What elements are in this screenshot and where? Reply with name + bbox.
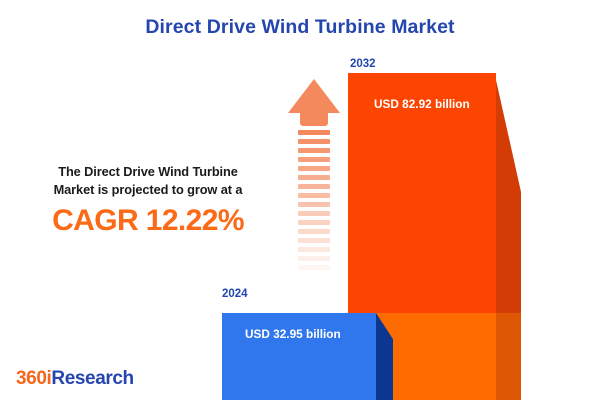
- arrow-stripe: [298, 175, 330, 180]
- arrow-stripe: [298, 283, 330, 288]
- arrow-head-shape: [288, 79, 340, 113]
- arrow-stripe: [298, 157, 330, 162]
- bar-2032-side-face-lower: [496, 313, 521, 400]
- arrow-stripe: [298, 166, 330, 171]
- bar-2032-year-label: 2032: [350, 58, 376, 70]
- arrow-stripe: [298, 238, 330, 243]
- bar-2032-side-face: [496, 80, 521, 313]
- statement-line-2: Market is projected to grow at a: [14, 181, 282, 199]
- arrow-stripe: [298, 130, 330, 135]
- infographic-canvas: Direct Drive Wind Turbine Market The Dir…: [0, 0, 600, 400]
- cagr-value: CAGR 12.22%: [14, 204, 282, 238]
- arrow-stripe: [298, 211, 330, 216]
- bar-2024-year-label: 2024: [222, 288, 248, 300]
- arrow-stripe: [298, 148, 330, 153]
- statement-line-1: The Direct Drive Wind Turbine: [14, 163, 282, 181]
- statement-block: The Direct Drive Wind Turbine Market is …: [14, 163, 282, 238]
- arrow-neck-shape: [300, 112, 328, 126]
- growth-arrow-icon: [288, 79, 340, 291]
- arrow-stripe: [298, 202, 330, 207]
- arrow-stripe: [298, 193, 330, 198]
- arrow-stripe: [298, 139, 330, 144]
- logo-text-360i: 360i: [16, 368, 51, 389]
- arrow-stripe: [298, 229, 330, 234]
- brand-logo[interactable]: 360iResearch: [16, 368, 134, 390]
- arrow-stripe: [298, 265, 330, 270]
- bar-2024-value-label: USD 32.95 billion: [245, 327, 341, 341]
- logo-text-research: Research: [51, 368, 133, 389]
- bar-2032-front-face: [348, 80, 496, 313]
- arrow-stripe-stack: [298, 130, 330, 290]
- page-title: Direct Drive Wind Turbine Market: [0, 16, 600, 39]
- arrow-stripe: [298, 184, 330, 189]
- bar-2032-value-label: USD 82.92 billion: [374, 97, 470, 111]
- arrow-stripe: [298, 220, 330, 225]
- arrow-stripe: [298, 256, 330, 261]
- arrow-stripe: [298, 274, 330, 279]
- arrow-stripe: [298, 247, 330, 252]
